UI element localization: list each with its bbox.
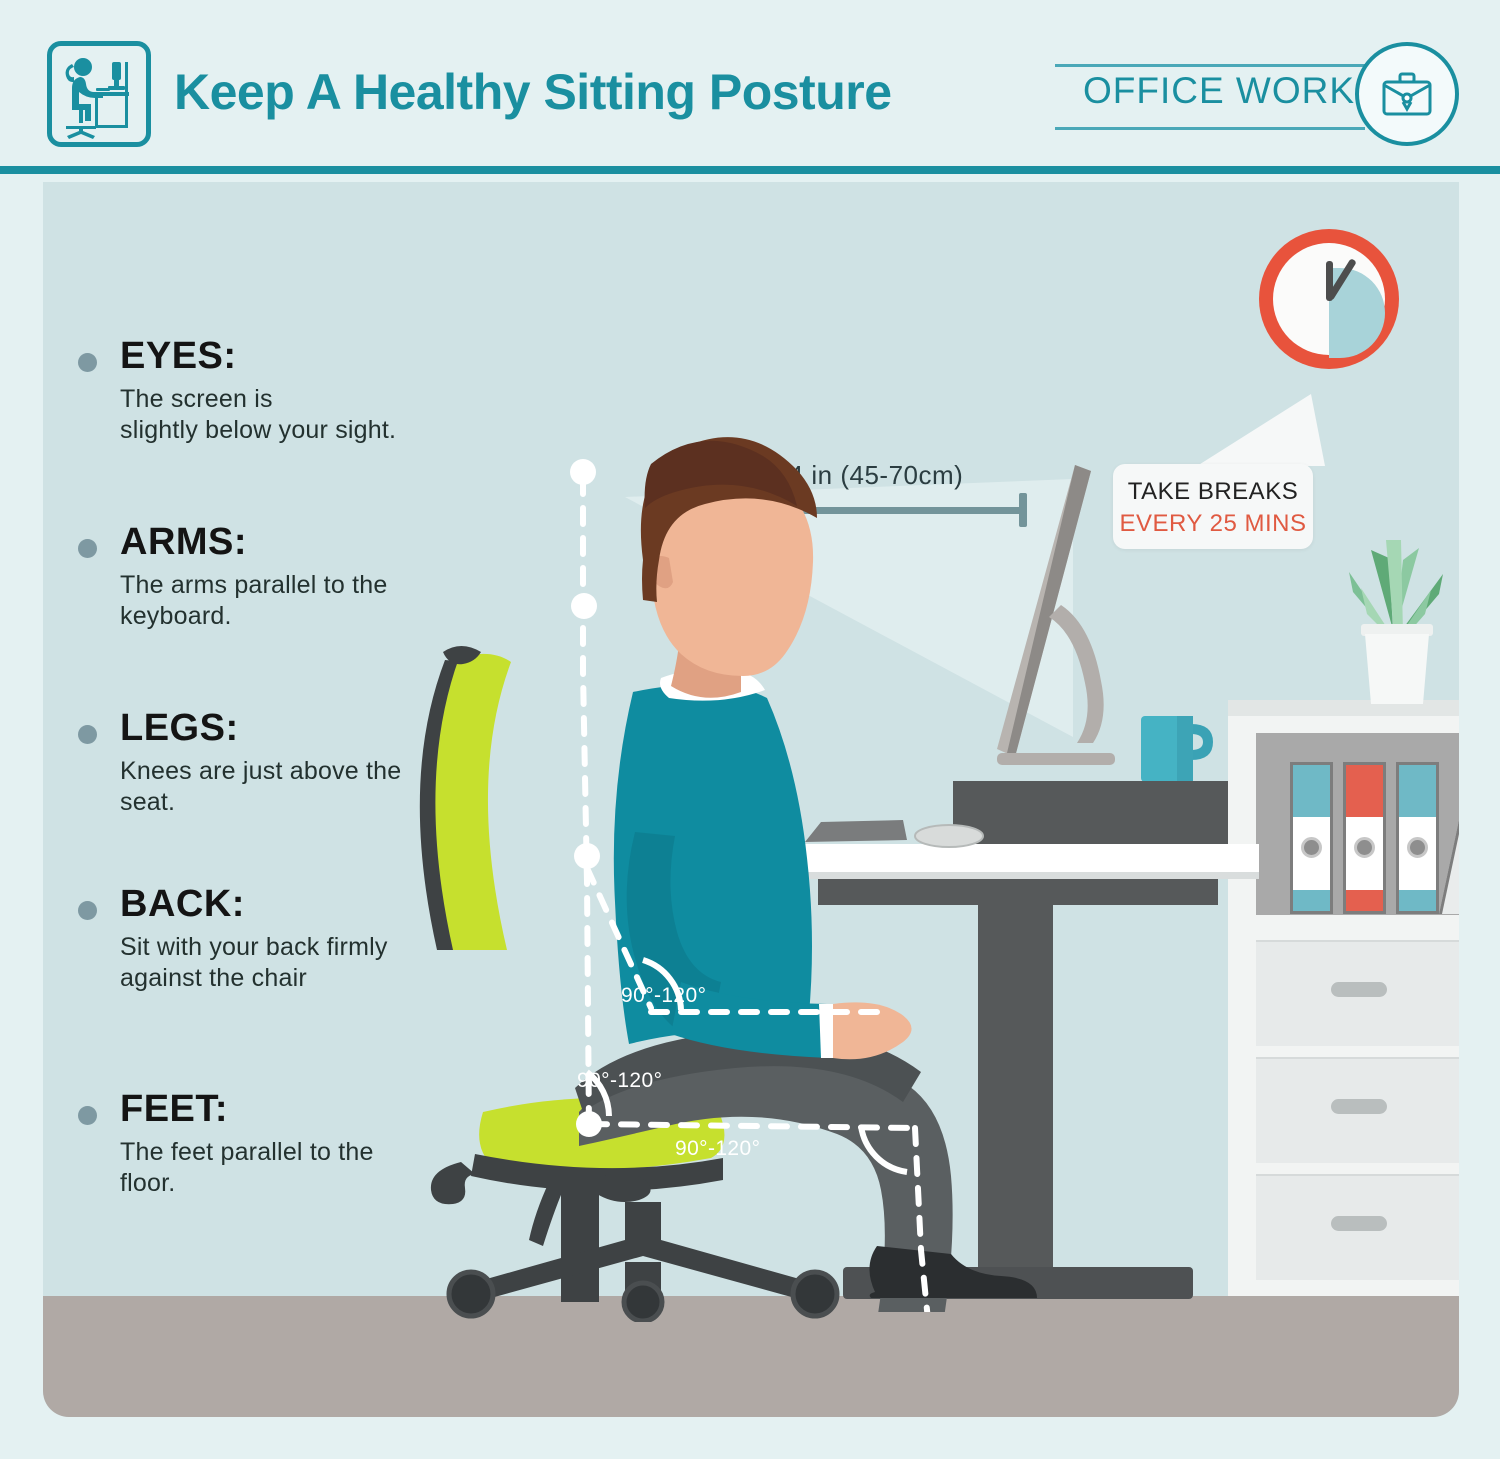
angle-label-knee: 90°-120° [675, 1137, 760, 1161]
tip-eyes-body: The screen is slightly below your sight. [120, 384, 498, 445]
tip-arms-heading: ARMS: [120, 523, 498, 561]
binder-3-ring [1407, 837, 1428, 858]
header-bar: Keep A Healthy Sitting Posture OFFICE WO… [0, 0, 1500, 168]
header-divider [0, 166, 1500, 174]
tip-eyes: EYES: The screen is slightly below your … [78, 337, 498, 445]
badge-circle [1355, 42, 1459, 146]
tip-feet-heading: FEET: [120, 1090, 498, 1128]
clock [1259, 229, 1399, 369]
tip-back-heading: BACK: [120, 885, 498, 923]
bullet-icon [78, 539, 97, 558]
tip-feet-body: The feet parallel to the floor. [120, 1137, 498, 1198]
bullet-icon [78, 725, 97, 744]
infographic-canvas: Keep A Healthy Sitting Posture OFFICE WO… [0, 0, 1500, 1459]
badge-label: OFFICE WORK [1069, 70, 1369, 112]
binder-2-ring [1354, 837, 1375, 858]
tip-back: BACK: Sit with your back firmly against … [78, 885, 498, 993]
binder-2-top [1346, 765, 1383, 817]
tip-legs-heading: LEGS: [120, 709, 498, 747]
bullet-icon [78, 1106, 97, 1125]
binder-1-bottom [1293, 890, 1330, 911]
tip-legs-body: Knees are just above the seat. [120, 756, 498, 817]
angle-label-hip: 90°-120° [577, 1069, 662, 1093]
tip-arms: ARMS: The arms parallel to the keyboard. [78, 523, 498, 631]
posture-guide-lines [483, 412, 1123, 1312]
drawer-1-handle [1331, 982, 1387, 997]
tip-feet: FEET: The feet parallel to the floor. [78, 1090, 498, 1198]
tip-arms-body: The arms parallel to the keyboard. [120, 570, 498, 631]
tip-legs: LEGS: Knees are just above the seat. [78, 709, 498, 817]
drawer-2-handle [1331, 1099, 1387, 1114]
binder-3-top [1399, 765, 1436, 817]
clock-face [1273, 243, 1385, 355]
binder-2-bottom [1346, 890, 1383, 911]
tip-back-body: Sit with your back firmly against the ch… [120, 932, 498, 993]
office-work-badge: OFFICE WORK [1055, 42, 1455, 146]
bullet-icon [78, 901, 97, 920]
tip-eyes-heading: EYES: [120, 337, 498, 375]
binder-3-bottom [1399, 890, 1436, 911]
bullet-icon [78, 353, 97, 372]
binder-1-ring [1301, 837, 1322, 858]
page-title: Keep A Healthy Sitting Posture [174, 63, 892, 121]
coffee-mug [1133, 704, 1223, 784]
drawer-3-handle [1331, 1216, 1387, 1231]
binder-1-top [1293, 765, 1330, 817]
scene-card: TAKE BREAKS EVERY 25 MINS 18 / 24 in (45… [43, 182, 1459, 1417]
potted-plant [1331, 510, 1459, 705]
angle-label-elbow: 90°-120° [621, 984, 706, 1008]
person-at-desk-icon [47, 41, 151, 147]
